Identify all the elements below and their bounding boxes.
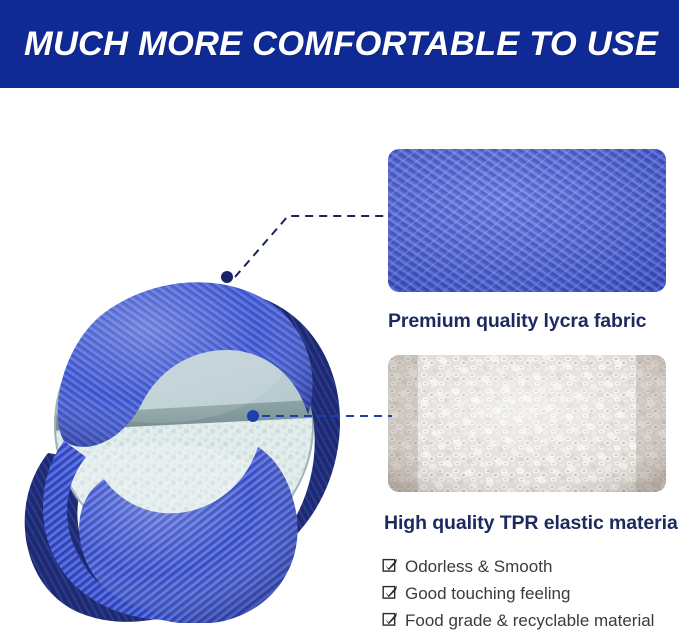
callout-dot-fabric (221, 271, 233, 283)
checkbox-checked-icon (382, 557, 398, 573)
list-item-label: Food grade & recyclable material (405, 611, 654, 631)
product-infographic: MUCH MORE COMFORTABLE TO USE (0, 0, 679, 638)
list-item: Odorless & Smooth (382, 556, 674, 577)
caption-tpr-material: High quality TPR elastic material (384, 512, 666, 535)
list-item-label: Odorless & Smooth (405, 557, 552, 577)
callout-column: Premium quality lycra fabric (388, 88, 666, 638)
caption-lycra-fabric: Premium quality lycra fabric (388, 310, 670, 333)
tpr-pellets-swatch (388, 355, 666, 492)
list-item-label: Good touching feeling (405, 584, 570, 604)
lycra-fabric-swatch (388, 149, 666, 292)
list-item: Food grade & recyclable material (382, 610, 674, 631)
list-item: Good touching feeling (382, 583, 674, 604)
feature-list: Odorless & Smooth Good touching feeling (382, 556, 674, 637)
product-illustration (8, 203, 363, 623)
page-title: MUCH MORE COMFORTABLE TO USE (24, 27, 664, 62)
header-banner: MUCH MORE COMFORTABLE TO USE (0, 0, 679, 88)
callout-dot-tpr (247, 410, 259, 422)
checkbox-checked-icon (382, 611, 398, 627)
content-area: Premium quality lycra fabric (0, 88, 679, 638)
checkbox-checked-icon (382, 584, 398, 600)
